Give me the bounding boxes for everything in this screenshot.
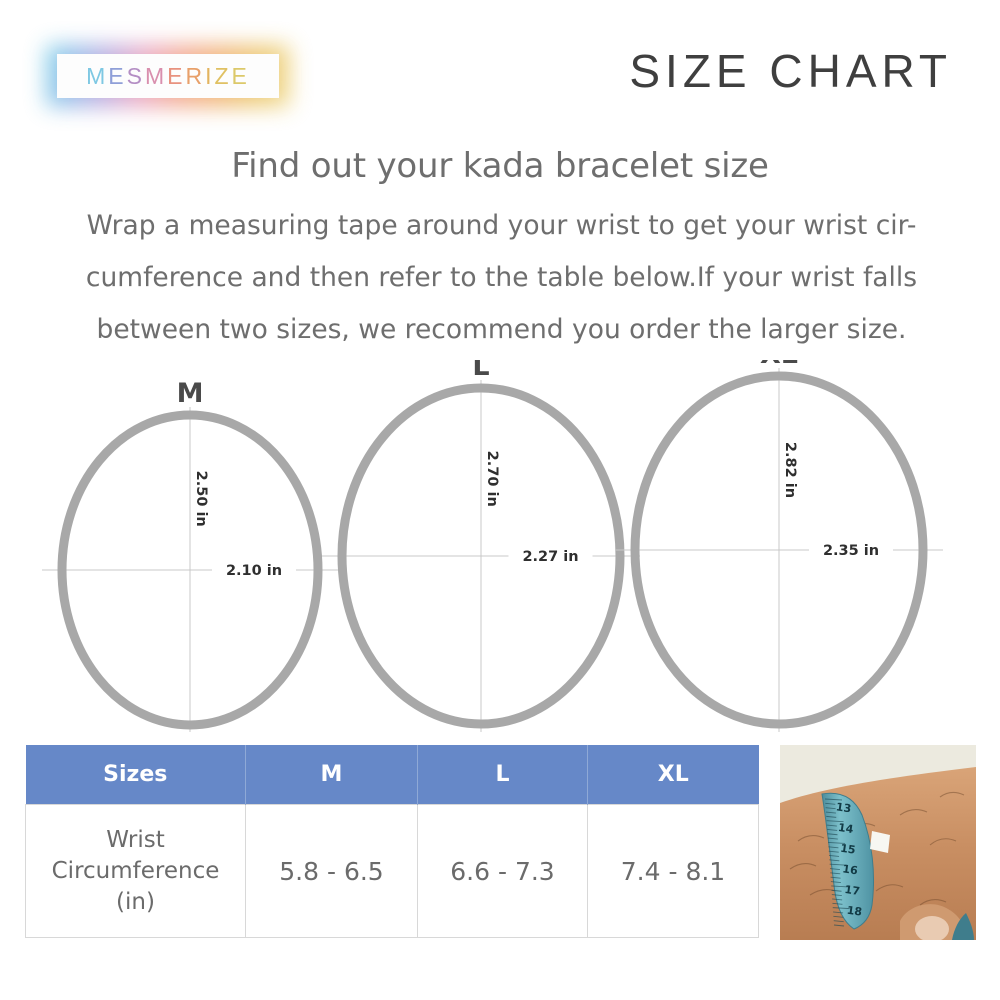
logo-letter-3: M	[145, 65, 167, 88]
size-label-l: L	[472, 360, 489, 382]
tape-number-15: 15	[839, 842, 856, 857]
logo-plate: MESMERIZE	[57, 54, 279, 98]
height-measurement-m: 2.50 in	[193, 471, 209, 527]
paragraph-line-2: cumference and then refer to the table b…	[50, 252, 953, 304]
paragraph-line-1: Wrap a measuring tape around your wrist …	[50, 200, 953, 252]
table-row: Wrist Circumference (in) 5.8 - 6.5 6.6 -…	[26, 805, 759, 938]
row-label-line-2: Circumference	[27, 856, 244, 887]
row-label-line-3: (in)	[27, 887, 244, 918]
cell-m-range: 5.8 - 6.5	[246, 805, 418, 938]
logo-letter-6: I	[205, 65, 214, 88]
logo-letter-4: E	[167, 65, 185, 88]
cell-xl-range: 7.4 - 8.1	[588, 805, 759, 938]
logo-letter-7: Z	[214, 65, 231, 88]
cell-l-range: 6.6 - 7.3	[418, 805, 588, 938]
intro-paragraph: Wrap a measuring tape around your wrist …	[50, 200, 953, 356]
size-table: Sizes M L XL Wrist Circumference (in) 5.…	[25, 745, 759, 938]
table-header-sizes: Sizes	[26, 745, 246, 805]
page-title: SIZE CHART	[629, 48, 952, 94]
bracelet-diagrams: M2.50 in2.10 inL2.70 in2.27 inXL2.82 in2…	[0, 360, 1000, 732]
tape-number-16: 16	[842, 862, 859, 877]
size-label-m: M	[177, 378, 204, 409]
logo-wordmark: MESMERIZE	[86, 65, 250, 88]
row-label-line-1: Wrist	[27, 825, 244, 856]
logo-letter-2: S	[127, 65, 145, 88]
width-measurement-m: 2.10 in	[226, 563, 282, 579]
table-header-row: Sizes M L XL	[26, 745, 759, 805]
logo-letter-0: M	[86, 65, 108, 88]
logo-letter-1: E	[108, 65, 126, 88]
row-label-wrist-circumference: Wrist Circumference (in)	[26, 805, 246, 938]
tape-number-17: 17	[844, 883, 861, 898]
wrist-photo-illustration: 131415161718	[780, 745, 976, 940]
size-label-xl: XL	[760, 360, 798, 370]
logo-letter-8: E	[232, 65, 250, 88]
table-header-xl: XL	[588, 745, 759, 805]
table-header-m: M	[246, 745, 418, 805]
logo-letter-5: R	[185, 65, 205, 88]
tape-number-14: 14	[837, 821, 854, 836]
paragraph-line-3: between two sizes, we recommend you orde…	[50, 304, 953, 356]
headline: Find out your kada bracelet size	[0, 146, 1000, 186]
brand-logo: MESMERIZE	[46, 45, 290, 107]
width-measurement-l: 2.27 in	[522, 549, 578, 565]
width-measurement-xl: 2.35 in	[823, 543, 879, 559]
table-header-l: L	[418, 745, 588, 805]
tape-number-18: 18	[846, 904, 863, 919]
tape-number-13: 13	[835, 800, 852, 815]
bracelet-diagram-svg: M2.50 in2.10 inL2.70 in2.27 inXL2.82 in2…	[0, 360, 1000, 732]
height-measurement-l: 2.70 in	[484, 451, 500, 507]
height-measurement-xl: 2.82 in	[782, 442, 798, 498]
wrist-measurement-photo: 131415161718	[780, 745, 976, 940]
